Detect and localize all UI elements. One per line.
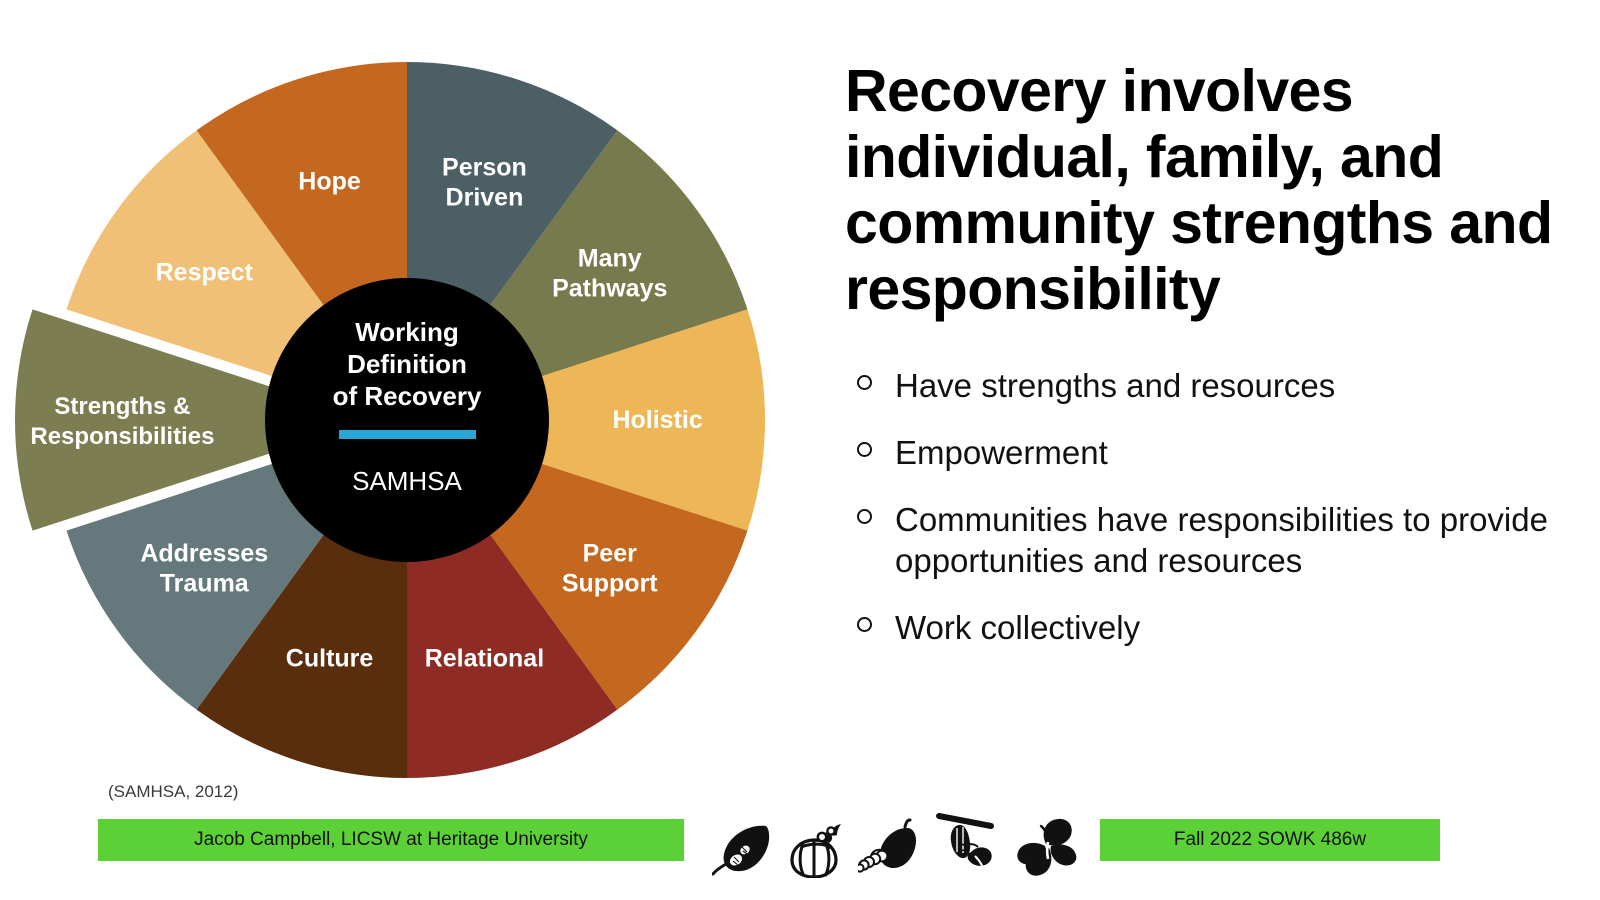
hatching-egg-icon — [785, 820, 847, 878]
bullet-item: Have strengths and resources — [845, 366, 1565, 407]
butterfly-lifecycle-icons — [712, 806, 1082, 878]
slide-root: PersonDrivenManyPathwaysHolisticPeerSupp… — [0, 0, 1600, 900]
footer-author-bar: Jacob Campbell, LICSW at Heritage Univer… — [98, 819, 684, 861]
wheel-segment-label: Peer — [583, 539, 637, 567]
content-column: Recovery involves individual, family, an… — [845, 58, 1565, 675]
wheel-segment-label: Responsibilities — [30, 423, 214, 450]
caterpillar-icon — [858, 816, 924, 878]
wheel-segment-label: Support — [562, 569, 658, 597]
wheel-segment-label: Hope — [298, 168, 361, 196]
bullet-label: Have strengths and resources — [895, 367, 1335, 404]
bullet-marker-icon — [857, 442, 872, 457]
bullet-marker-icon — [857, 375, 872, 390]
wheel-segment-label: Driven — [446, 184, 524, 212]
butterfly-icon — [1012, 816, 1082, 878]
hub-title-line1: Working — [355, 317, 459, 347]
hub-title-line2: Definition — [347, 349, 467, 379]
wheel-segment-label: Trauma — [160, 569, 250, 597]
hub-org-label: SAMHSA — [352, 466, 462, 496]
wheel-hub: Working Definition of Recovery SAMHSA — [265, 278, 549, 562]
egg-on-leaf-icon — [712, 820, 774, 878]
bullet-label: Empowerment — [895, 434, 1108, 471]
bullet-label: Work collectively — [895, 609, 1140, 646]
recovery-wheel-svg: PersonDrivenManyPathwaysHolisticPeerSupp… — [0, 0, 820, 800]
wheel-segment-label: Addresses — [140, 539, 268, 567]
bullet-label: Communities have responsibilities to pro… — [895, 501, 1548, 579]
recovery-wheel: PersonDrivenManyPathwaysHolisticPeerSupp… — [0, 0, 820, 800]
wheel-segment-label: Pathways — [552, 275, 667, 303]
page-title: Recovery involves individual, family, an… — [845, 58, 1565, 322]
bullet-marker-icon — [857, 509, 872, 524]
footer-author-label: Jacob Campbell, LICSW at Heritage Univer… — [194, 829, 588, 851]
citation-text: (SAMHSA, 2012) — [108, 782, 238, 802]
footer-course-label: Fall 2022 SOWK 486w — [1174, 829, 1366, 851]
wheel-segment-label: Strengths & — [54, 393, 190, 420]
bullet-list: Have strengths and resourcesEmpowermentC… — [845, 366, 1565, 649]
bullet-marker-icon — [857, 617, 872, 632]
chrysalis-icon — [935, 812, 1001, 878]
bullet-item: Work collectively — [845, 608, 1565, 649]
wheel-segment-label: Respect — [156, 259, 254, 287]
wheel-segment-label: Relational — [425, 644, 544, 672]
bullet-item: Communities have responsibilities to pro… — [845, 500, 1565, 582]
bullet-item: Empowerment — [845, 433, 1565, 474]
wheel-segment-label: Holistic — [612, 406, 702, 434]
wheel-segment-label: Culture — [286, 644, 374, 672]
hub-divider-bar — [339, 430, 476, 439]
footer-course-bar: Fall 2022 SOWK 486w — [1100, 819, 1440, 861]
wheel-segment-label: Many — [578, 245, 642, 273]
wheel-segment-label: Person — [442, 154, 527, 182]
hub-title-line3: of Recovery — [333, 381, 482, 411]
